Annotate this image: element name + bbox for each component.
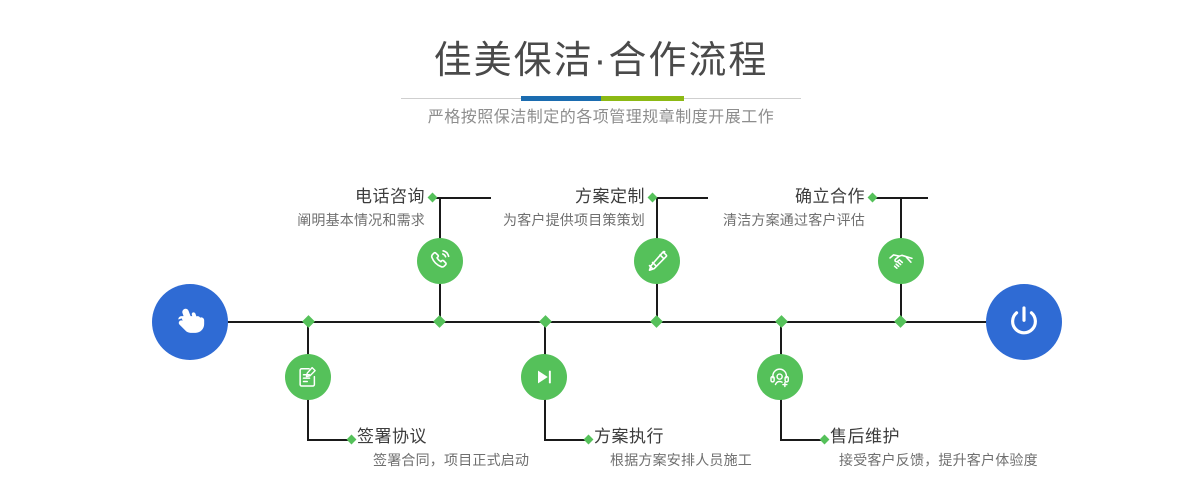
timeline-end-node[interactable] [986, 284, 1062, 360]
handshake-icon [887, 247, 915, 275]
step-icon-document-edit[interactable] [285, 354, 331, 400]
step-icon-phone-call[interactable] [417, 238, 463, 284]
connector-top-3-horizontal [876, 197, 928, 199]
process-timeline: 电话咨询 阐明基本情况和需求 方案定制 为客户提供项目策策划 [0, 0, 1202, 502]
step-label-bottom-3: 售后维护 接受客户反馈，提升客户体验度 [830, 426, 1190, 471]
step-desc: 接受客户反馈，提升客户体验度 [839, 449, 1190, 471]
axis-node-top-2 [650, 315, 663, 328]
power-icon [1003, 301, 1045, 343]
step-icon-customer-support[interactable] [757, 354, 803, 400]
customer-support-icon [768, 365, 792, 389]
step-icon-pencil-edit[interactable] [634, 238, 680, 284]
timeline-start-node[interactable] [152, 284, 228, 360]
axis-node-top-3 [894, 315, 907, 328]
document-edit-icon [296, 365, 320, 389]
step-desc: 清洁方案通过客户评估 [595, 209, 865, 231]
axis-node-top-1 [433, 315, 446, 328]
phone-call-icon [427, 248, 453, 274]
connector-bottom-1-horizontal [307, 439, 352, 441]
step-icon-play-next[interactable] [521, 354, 567, 400]
pencil-edit-icon [644, 248, 670, 274]
step-title: 售后维护 [830, 426, 1190, 448]
pointing-hand-icon [170, 302, 210, 342]
step-icon-handshake[interactable] [878, 238, 924, 284]
axis-node-bottom-1 [302, 315, 315, 328]
axis-node-bottom-3 [775, 315, 788, 328]
step-title: 确立合作 [595, 186, 865, 208]
step-marker-top-3 [868, 193, 878, 203]
step-marker-bottom-1 [347, 435, 357, 445]
play-next-icon [532, 365, 556, 389]
flow-diagram-page: 佳美保洁·合作流程 严格按照保洁制定的各项管理规章制度开展工作 [0, 0, 1202, 502]
step-label-top-3: 确立合作 清洁方案通过客户评估 [595, 186, 865, 231]
axis-node-bottom-2 [539, 315, 552, 328]
